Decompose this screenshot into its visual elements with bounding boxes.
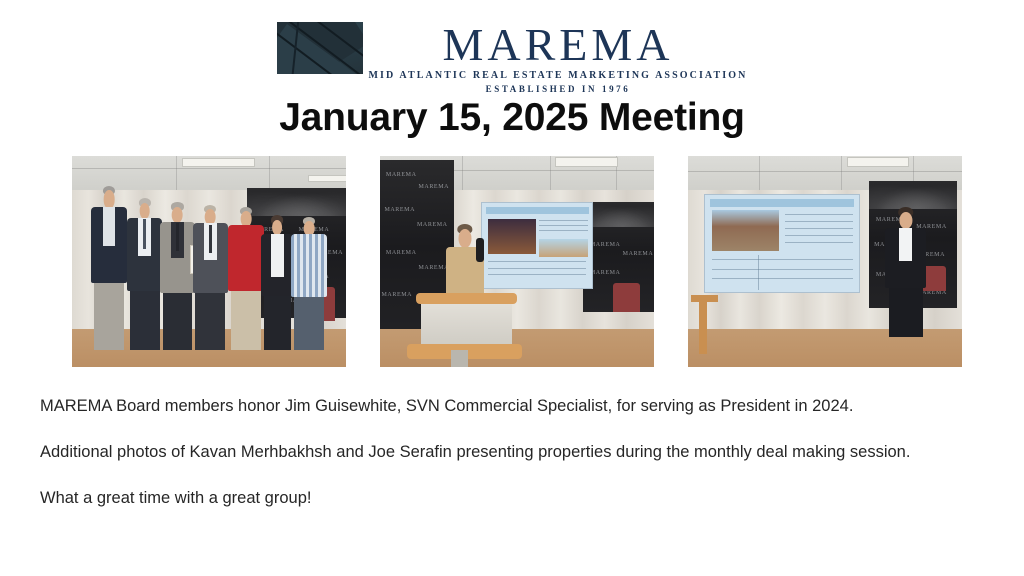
logo-name: MAREMA	[442, 22, 673, 68]
roof-photo-icon	[277, 22, 363, 74]
person-figure	[291, 217, 327, 350]
photo-strip: MAREMA MAREMA MAREMA MAREMA MAREMA MAREM…	[72, 156, 962, 367]
logo-established: ESTABLISHED IN 1976	[486, 83, 631, 95]
person-figure	[261, 215, 294, 350]
slide-header: MAREMA MID ATLANTIC REAL ESTATE MARKETIN…	[0, 22, 1024, 95]
logo-wordmark: MAREMA MID ATLANTIC REAL ESTATE MARKETIN…	[369, 22, 748, 95]
person-figure	[228, 207, 264, 350]
person-figure	[193, 205, 229, 351]
caption-line-2: Additional photos of Kavan Merhbakhsh an…	[40, 442, 990, 462]
caption-block: MAREMA Board members honor Jim Guisewhit…	[40, 396, 990, 508]
caption-line-3: What a great time with a great group!	[40, 488, 990, 508]
logo-tagline: MID ATLANTIC REAL ESTATE MARKETING ASSOC…	[369, 69, 748, 82]
caption-line-1: MAREMA Board members honor Jim Guisewhit…	[40, 396, 990, 416]
photo-award-group: MAREMA MAREMA MAREMA MAREMA MAREMA MAREM…	[72, 156, 346, 367]
projection-screen	[481, 202, 593, 288]
side-lectern-stem	[699, 299, 707, 354]
marema-logo: MAREMA MID ATLANTIC REAL ESTATE MARKETIN…	[277, 22, 748, 95]
person-figure	[91, 186, 127, 351]
person-figure	[127, 198, 163, 350]
photo-podium-speaker: MAREMA MAREMA MAREMA MAREMA MAREMA MAREM…	[380, 156, 654, 367]
person-figure	[885, 207, 926, 338]
podium-top	[416, 293, 517, 304]
microphone	[476, 238, 484, 261]
photo-presenter-screen: MAREMA MAREMA MAREMA MAREMA MAREMA MAREM…	[688, 156, 962, 367]
page-title: January 15, 2025 Meeting	[0, 96, 1024, 140]
projection-screen	[704, 194, 859, 293]
person-figure	[160, 202, 196, 350]
